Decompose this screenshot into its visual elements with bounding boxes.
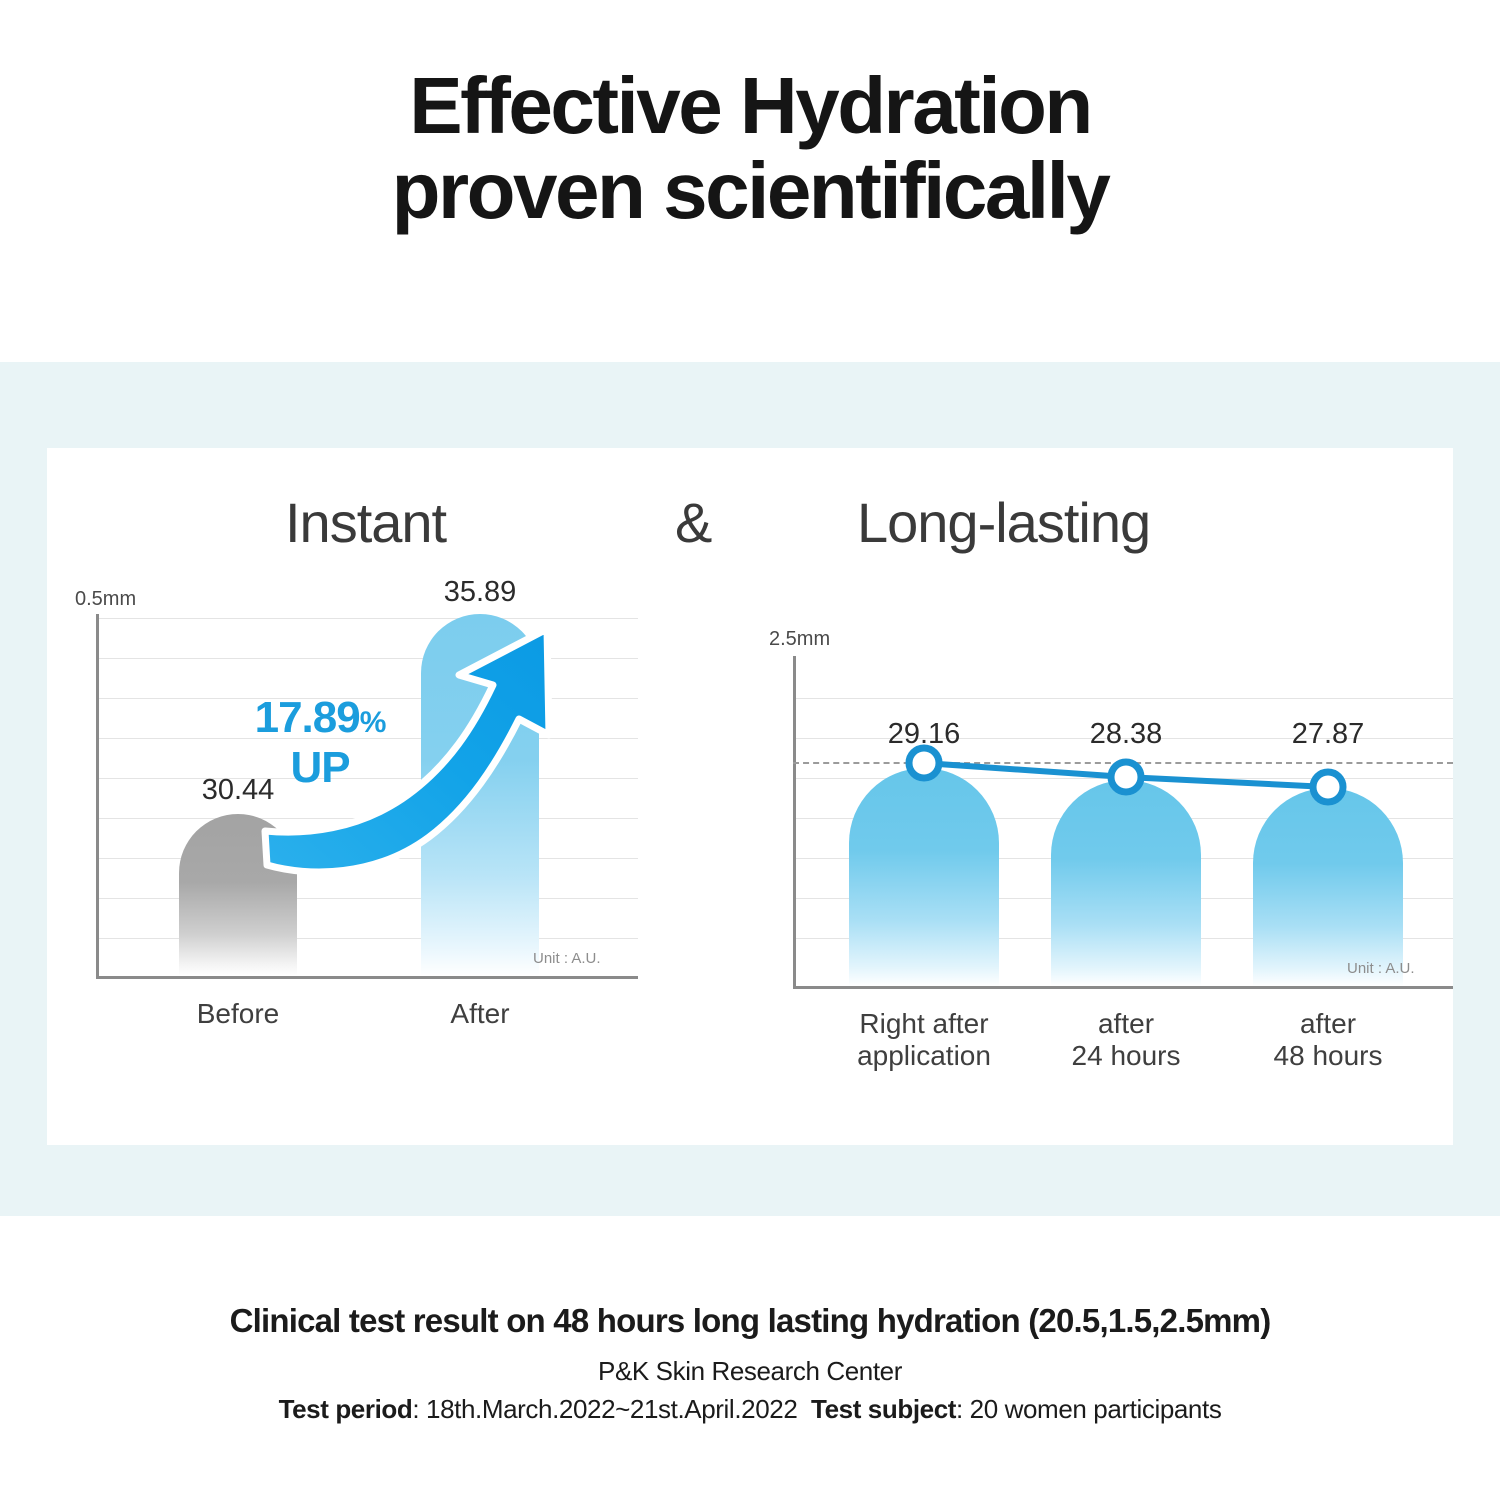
gridline	[98, 618, 638, 619]
value-label-after-24-hours: 28.38	[1056, 718, 1196, 751]
footer-test-period-value: : 18th.March.2022~21st.April.2022	[412, 1394, 797, 1424]
page-title-line-2: proven scientifically	[0, 149, 1500, 234]
gridline	[795, 698, 1453, 699]
bar-after-24-hours	[1051, 780, 1201, 986]
instant-hydration-chart: 0.5mm 30.44 35.89	[47, 578, 707, 1088]
category-label-after: After	[400, 998, 560, 1030]
section-header-instant: Instant	[285, 490, 446, 555]
reference-line	[793, 762, 1453, 764]
category-label-after-24-hours: after 24 hours	[1036, 1008, 1216, 1072]
growth-percentage-annotation: 17.89% UP	[225, 696, 415, 790]
right-chart-x-axis	[793, 986, 1453, 989]
left-chart-x-axis	[96, 976, 638, 979]
bar-right-after-application	[849, 768, 999, 986]
page-title: Effective Hydration proven scientificall…	[0, 64, 1500, 234]
right-chart-axis-note: 2.5mm	[769, 628, 830, 651]
footer-test-subject-label: Test subject	[811, 1394, 956, 1424]
footer-research-center: P&K Skin Research Center	[0, 1355, 1500, 1389]
category-label-right-after-application: Right after application	[834, 1008, 1014, 1072]
section-header-long-lasting: Long-lasting	[857, 490, 1150, 555]
value-label-after: 35.89	[410, 576, 550, 609]
footer-clinical-result: Clinical test result on 48 hours long la…	[0, 1300, 1500, 1341]
footer-test-details: Test period: 18th.March.2022~21st.April.…	[0, 1393, 1500, 1427]
gridline	[98, 818, 638, 819]
footer-test-subject-value: : 20 women participants	[956, 1394, 1221, 1424]
percent-symbol: %	[360, 706, 386, 739]
footer-notes: Clinical test result on 48 hours long la…	[0, 1300, 1500, 1427]
section-headers: Instant & Long-lasting	[47, 490, 1453, 570]
long-lasting-hydration-chart: 2.5mm 29.16 28.38 27.87 Unit : A.U.	[707, 620, 1453, 1120]
section-header-ampersand: &	[675, 490, 711, 555]
growth-direction-label: UP	[225, 746, 415, 790]
page-title-line-1: Effective Hydration	[409, 61, 1091, 150]
bar-after-48-hours	[1253, 788, 1403, 986]
category-label-before: Before	[158, 998, 318, 1030]
left-chart-axis-note: 0.5mm	[75, 588, 136, 611]
bar-before	[179, 814, 297, 976]
charts-card: Instant & Long-lasting 0.5mm 30.44 35.89	[47, 448, 1453, 1145]
value-label-right-after-application: 29.16	[854, 718, 994, 751]
right-chart-unit-note: Unit : A.U.	[1347, 960, 1415, 977]
bar-after	[421, 614, 539, 976]
gridline	[98, 658, 638, 659]
growth-percentage-value: 17.89	[255, 693, 360, 742]
category-label-after-48-hours: after 48 hours	[1238, 1008, 1418, 1072]
value-label-after-48-hours: 27.87	[1258, 718, 1398, 751]
footer-test-period-label: Test period	[279, 1394, 413, 1424]
gridline	[98, 858, 638, 859]
right-chart-y-axis	[793, 656, 796, 988]
left-chart-y-axis	[96, 614, 99, 978]
left-chart-unit-note: Unit : A.U.	[533, 950, 601, 967]
